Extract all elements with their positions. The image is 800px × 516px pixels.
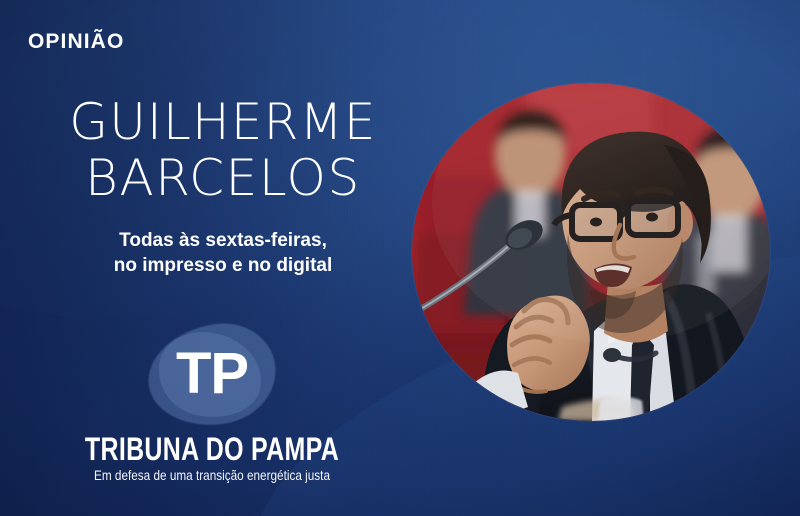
columnist-photo-illustration xyxy=(412,83,770,421)
brand-logo: TP TRIBUNA DO PAMPA Em defesa de uma tra… xyxy=(0,325,424,484)
logo-blob-mark: TP xyxy=(148,325,276,425)
columnist-first-name: GUILHERME xyxy=(0,94,446,150)
columnist-name: GUILHERME BARCELOS xyxy=(0,94,446,206)
opinion-column-banner: OPINIÃO GUILHERME BARCELOS Todas às sext… xyxy=(0,0,800,516)
columnist-photo xyxy=(412,83,770,421)
schedule-subtitle: Todas às sextas-feiras, no impresso e no… xyxy=(0,228,446,278)
section-kicker: OPINIÃO xyxy=(28,30,124,54)
brand-name: TRIBUNA DO PAMPA xyxy=(47,432,378,466)
logo-monogram: TP xyxy=(148,325,276,425)
schedule-subtitle-line-1: Todas às sextas-feiras, xyxy=(0,228,446,253)
brand-tagline: Em defesa de uma transição energética ju… xyxy=(34,467,390,484)
schedule-subtitle-line-2: no impresso e no digital xyxy=(0,253,446,278)
columnist-last-name: BARCELOS xyxy=(0,150,446,206)
